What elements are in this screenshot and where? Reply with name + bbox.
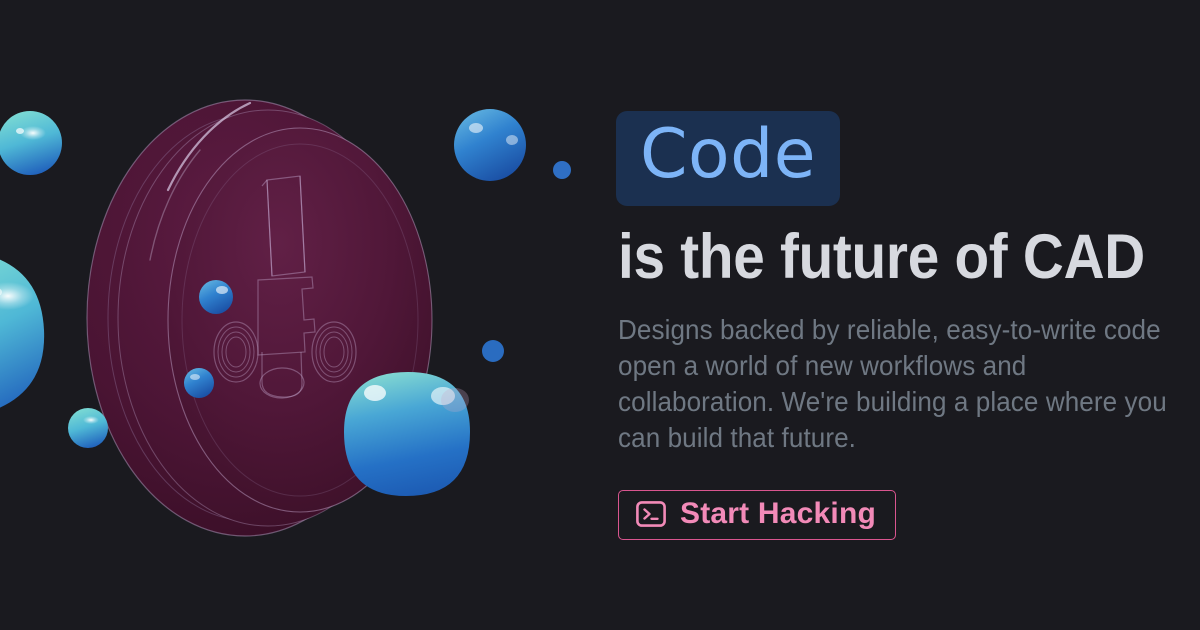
- hero-banner: Code is the future of CAD Designs backed…: [0, 0, 1200, 630]
- code-badge: Code: [616, 111, 840, 206]
- sphere-blue-on-disc-lower: [184, 368, 214, 398]
- start-hacking-button[interactable]: Start Hacking: [618, 490, 896, 540]
- sphere-blue-top: [454, 109, 526, 181]
- code-badge-label: Code: [640, 119, 816, 191]
- page-title: is the future of CAD: [618, 218, 1145, 296]
- sphere-blue-lowerleft: [68, 408, 108, 448]
- sphere-large-foreground: [344, 372, 470, 496]
- sphere-teal-topleft: [0, 111, 62, 175]
- cad-artwork: [0, 0, 600, 630]
- terminal-icon: [636, 501, 666, 527]
- sphere-blue-on-disc-upper: [199, 280, 233, 314]
- hero-description: Designs backed by reliable, easy-to-writ…: [618, 312, 1176, 456]
- sphere-dot-small: [553, 161, 571, 179]
- hero-content: Code is the future of CAD Designs backed…: [616, 0, 1200, 630]
- sphere-dot-mid: [482, 340, 504, 362]
- start-hacking-label: Start Hacking: [680, 498, 876, 530]
